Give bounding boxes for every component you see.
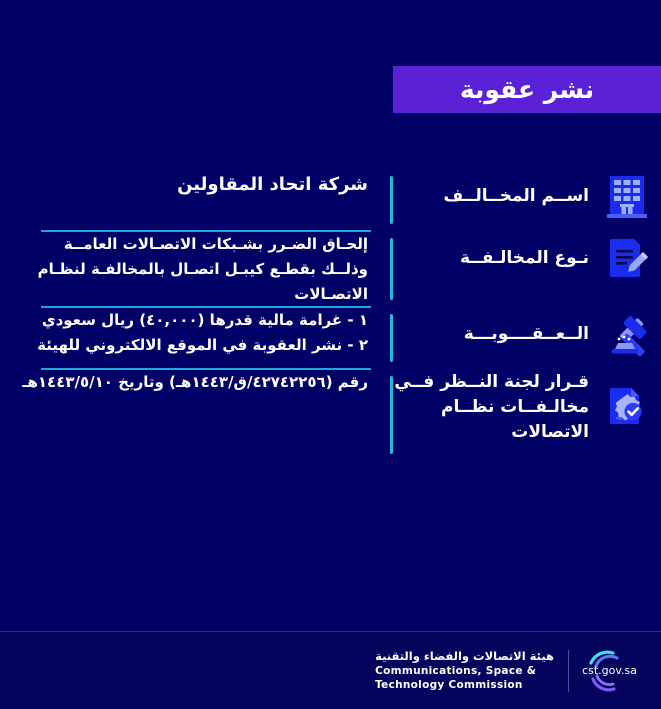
row-value-side: شركة اتحاد المقاولين	[0, 170, 390, 200]
row-label: الــعــقــــوبـــة	[393, 322, 589, 347]
page-title: نشر عقوبة	[460, 75, 594, 104]
row-separator	[390, 176, 393, 224]
verified-document-icon	[601, 381, 653, 433]
building-icon	[601, 170, 653, 222]
table-row: اســم المخــالــف شركة اتحاد المقاولين	[0, 170, 661, 230]
row-label: نـوع المخالـفــة	[393, 246, 589, 271]
penalty-value: ١ - غرامة مالية قدرها (٤٠,٠٠٠) ريال سعود…	[20, 308, 368, 358]
website-wrap: cst.gov.sa	[0, 632, 637, 709]
table-row: نـوع المخالـفــة إلحـاق الضـرر بشـبكات ا…	[0, 232, 661, 306]
row-label-side: نـوع المخالـفــة	[393, 232, 661, 284]
row-value-side: ١ - غرامة مالية قدرها (٤٠,٠٠٠) ريال سعود…	[0, 308, 390, 358]
violator-name-value: شركة اتحاد المقاولين	[20, 170, 368, 200]
gavel-icon	[601, 308, 653, 360]
row-separator	[390, 376, 393, 454]
row-label-side: قـرار لجنة النــظر فــي مخالـفــات نظــا…	[393, 370, 661, 444]
row-label-side: الــعــقــــوبـــة	[393, 308, 661, 360]
row-value-side: رقم (٤٢٧٤٢٢٥٦/ق/١٤٤٣هـ) وتاريخ ١٤٤٣/٥/١٠…	[0, 370, 390, 395]
row-label: قـرار لجنة النــظر فــي مخالـفــات نظــا…	[393, 370, 589, 444]
document-pen-icon	[601, 232, 653, 284]
row-separator	[390, 238, 393, 300]
row-separator	[390, 314, 393, 362]
table-row: قـرار لجنة النــظر فــي مخالـفــات نظــا…	[0, 370, 661, 460]
page-header-banner: نشر عقوبة	[393, 66, 661, 113]
row-value-side: إلحـاق الضـرر بشـبكات الاتصـالات العامــ…	[0, 232, 390, 306]
publication-card: نشر عقوبة	[0, 0, 661, 709]
website-url[interactable]: cst.gov.sa	[582, 664, 637, 677]
violation-type-value: إلحـاق الضـرر بشـبكات الاتصـالات العامــ…	[20, 232, 368, 306]
row-label: اســم المخــالــف	[393, 184, 589, 209]
footer: CST هيئة الاتصالات والفضاء والتقنية Comm…	[0, 632, 661, 709]
detail-rows: اســم المخــالــف شركة اتحاد المقاولين	[0, 170, 661, 460]
table-row: الــعــقــــوبـــة ١ - غرامة مالية قدرها…	[0, 308, 661, 368]
decision-reference-value: رقم (٤٢٧٤٢٢٥٦/ق/١٤٤٣هـ) وتاريخ ١٤٤٣/٥/١٠…	[20, 370, 368, 395]
row-label-side: اســم المخــالــف	[393, 170, 661, 222]
